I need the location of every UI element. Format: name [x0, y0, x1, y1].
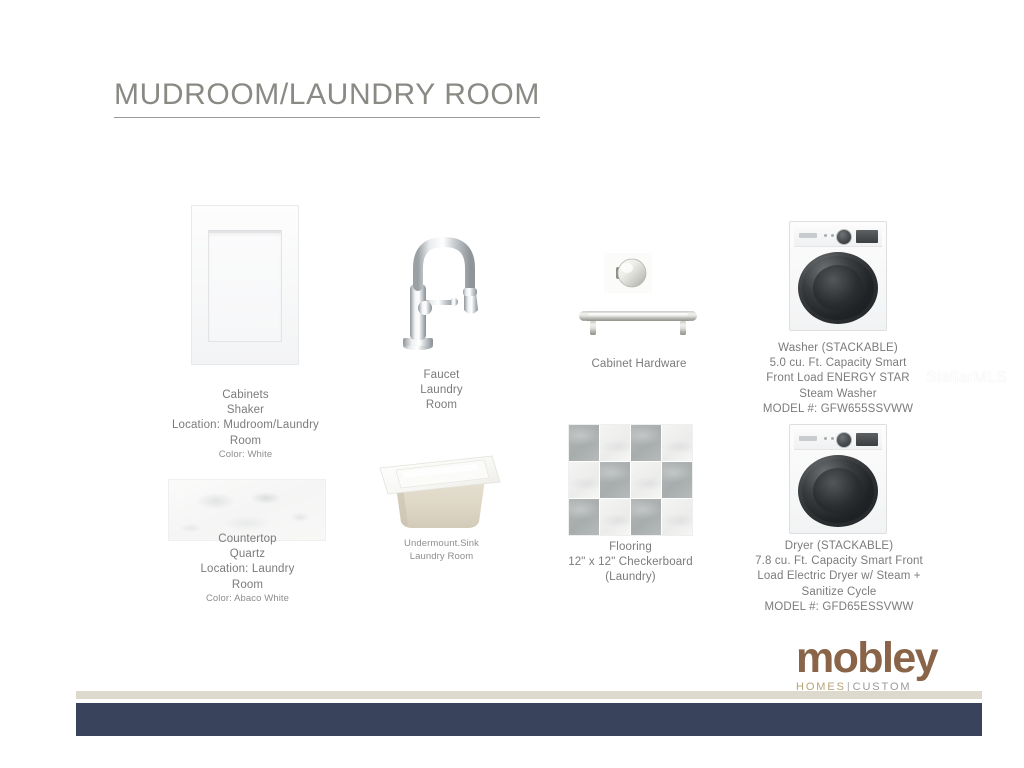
countertop-material: Quartz	[150, 547, 345, 562]
flooring-caption: Flooring 12" x 12" Checkerboard (Laundry…	[543, 540, 718, 586]
floor-tile-cell	[662, 462, 692, 498]
washer-caption: Washer (STACKABLE) 5.0 cu. Ft. Capacity …	[733, 341, 943, 417]
washer-model: MODEL #: GFW655SSVWW	[733, 402, 943, 417]
faucet-line2: Laundry	[374, 383, 509, 398]
countertop-location-cont: Room	[150, 578, 345, 593]
faucet-line3: Room	[374, 398, 509, 413]
washer-control-panel	[794, 226, 882, 247]
flooring-name: Flooring	[543, 540, 718, 555]
cabinets-location: Location: Mudroom/Laundry	[148, 418, 343, 433]
product-hardware	[576, 251, 704, 343]
dryer-model: MODEL #: GFD65ESSVWW	[728, 600, 950, 615]
cabinets-style: Shaker	[148, 403, 343, 418]
hardware-caption: Cabinet Hardware	[553, 357, 725, 372]
brand-mark	[799, 436, 817, 441]
product-faucet	[392, 226, 492, 354]
countertop-location: Location: Laundry	[150, 562, 345, 577]
washer-door	[798, 252, 878, 324]
page-title: MUDROOM/LAUNDRY ROOM	[114, 78, 540, 118]
product-dryer	[789, 424, 887, 534]
floor-tile-cell	[631, 425, 661, 461]
logo-wordmark: mobley	[796, 637, 976, 680]
floor-tile-cell	[569, 499, 599, 535]
dryer-line2: 7.8 cu. Ft. Capacity Smart Front	[728, 554, 950, 569]
washer-image	[789, 221, 887, 331]
product-washer	[789, 221, 887, 331]
dryer-caption: Dryer (STACKABLE) 7.8 cu. Ft. Capacity S…	[728, 539, 950, 615]
dryer-dial	[836, 432, 852, 448]
floor-tile-cell	[631, 499, 661, 535]
dryer-line1: Dryer (STACKABLE)	[728, 539, 950, 554]
floor-tile-cell	[600, 425, 630, 461]
cabinet-hardware-image	[576, 251, 704, 343]
faucet-image	[392, 226, 492, 354]
brand-mark	[799, 233, 817, 238]
panel-button	[824, 234, 827, 237]
footer-beige-bar	[76, 691, 982, 699]
product-flooring	[568, 424, 693, 536]
dryer-image	[789, 424, 887, 534]
dryer-control-panel	[794, 429, 882, 450]
countertop-caption: Countertop Quartz Location: Laundry Room…	[150, 532, 345, 605]
cabinets-caption: Cabinets Shaker Location: Mudroom/Laundr…	[148, 388, 343, 461]
product-cabinets	[191, 205, 299, 365]
panel-button	[831, 437, 834, 440]
dryer-display	[856, 433, 878, 446]
dryer-door	[798, 455, 878, 527]
floor-tile-cell	[662, 425, 692, 461]
flooring-image	[568, 424, 693, 536]
countertop-color: Color: Abaco White	[150, 593, 345, 606]
panel-button	[824, 437, 827, 440]
flooring-spec: 12" x 12" Checkerboard	[543, 555, 718, 570]
sink-name: Undermount.Sink	[375, 538, 508, 551]
footer-navy-bar	[76, 703, 982, 736]
hardware-name: Cabinet Hardware	[553, 357, 725, 372]
dryer-line3: Load Electric Dryer w/ Steam +	[728, 569, 950, 584]
cabinets-name: Cabinets	[148, 388, 343, 403]
washer-dial	[836, 229, 852, 245]
washer-line4: Steam Washer	[733, 387, 943, 402]
washer-line1: Washer (STACKABLE)	[733, 341, 943, 356]
floor-tile-cell	[569, 425, 599, 461]
countertop-name: Countertop	[150, 532, 345, 547]
panel-button	[831, 234, 834, 237]
floor-tile-cell	[569, 462, 599, 498]
floor-tile-cell	[662, 499, 692, 535]
washer-line2: 5.0 cu. Ft. Capacity Smart	[733, 356, 943, 371]
faucet-name: Faucet	[374, 368, 509, 383]
cabinet-door-image	[191, 205, 299, 365]
dryer-line4: Sanitize Cycle	[728, 585, 950, 600]
undermount-sink-image	[372, 438, 508, 536]
cabinets-color: Color: White	[148, 449, 343, 462]
sink-line2: Laundry Room	[375, 551, 508, 564]
mobley-logo: mobley HOMES|CUSTOM	[796, 637, 976, 693]
faucet-caption: Faucet Laundry Room	[374, 368, 509, 414]
floor-tile-cell	[600, 499, 630, 535]
cabinets-location-cont: Room	[148, 434, 343, 449]
washer-display	[856, 230, 878, 243]
floor-tile-cell	[600, 462, 630, 498]
washer-line3: Front Load ENERGY STAR	[733, 371, 943, 386]
sink-caption: Undermount.Sink Laundry Room	[375, 538, 508, 563]
cabinet-recessed-panel	[208, 232, 282, 342]
product-sink	[372, 438, 508, 536]
floor-tile-cell	[631, 462, 661, 498]
flooring-location: (Laundry)	[543, 570, 718, 585]
